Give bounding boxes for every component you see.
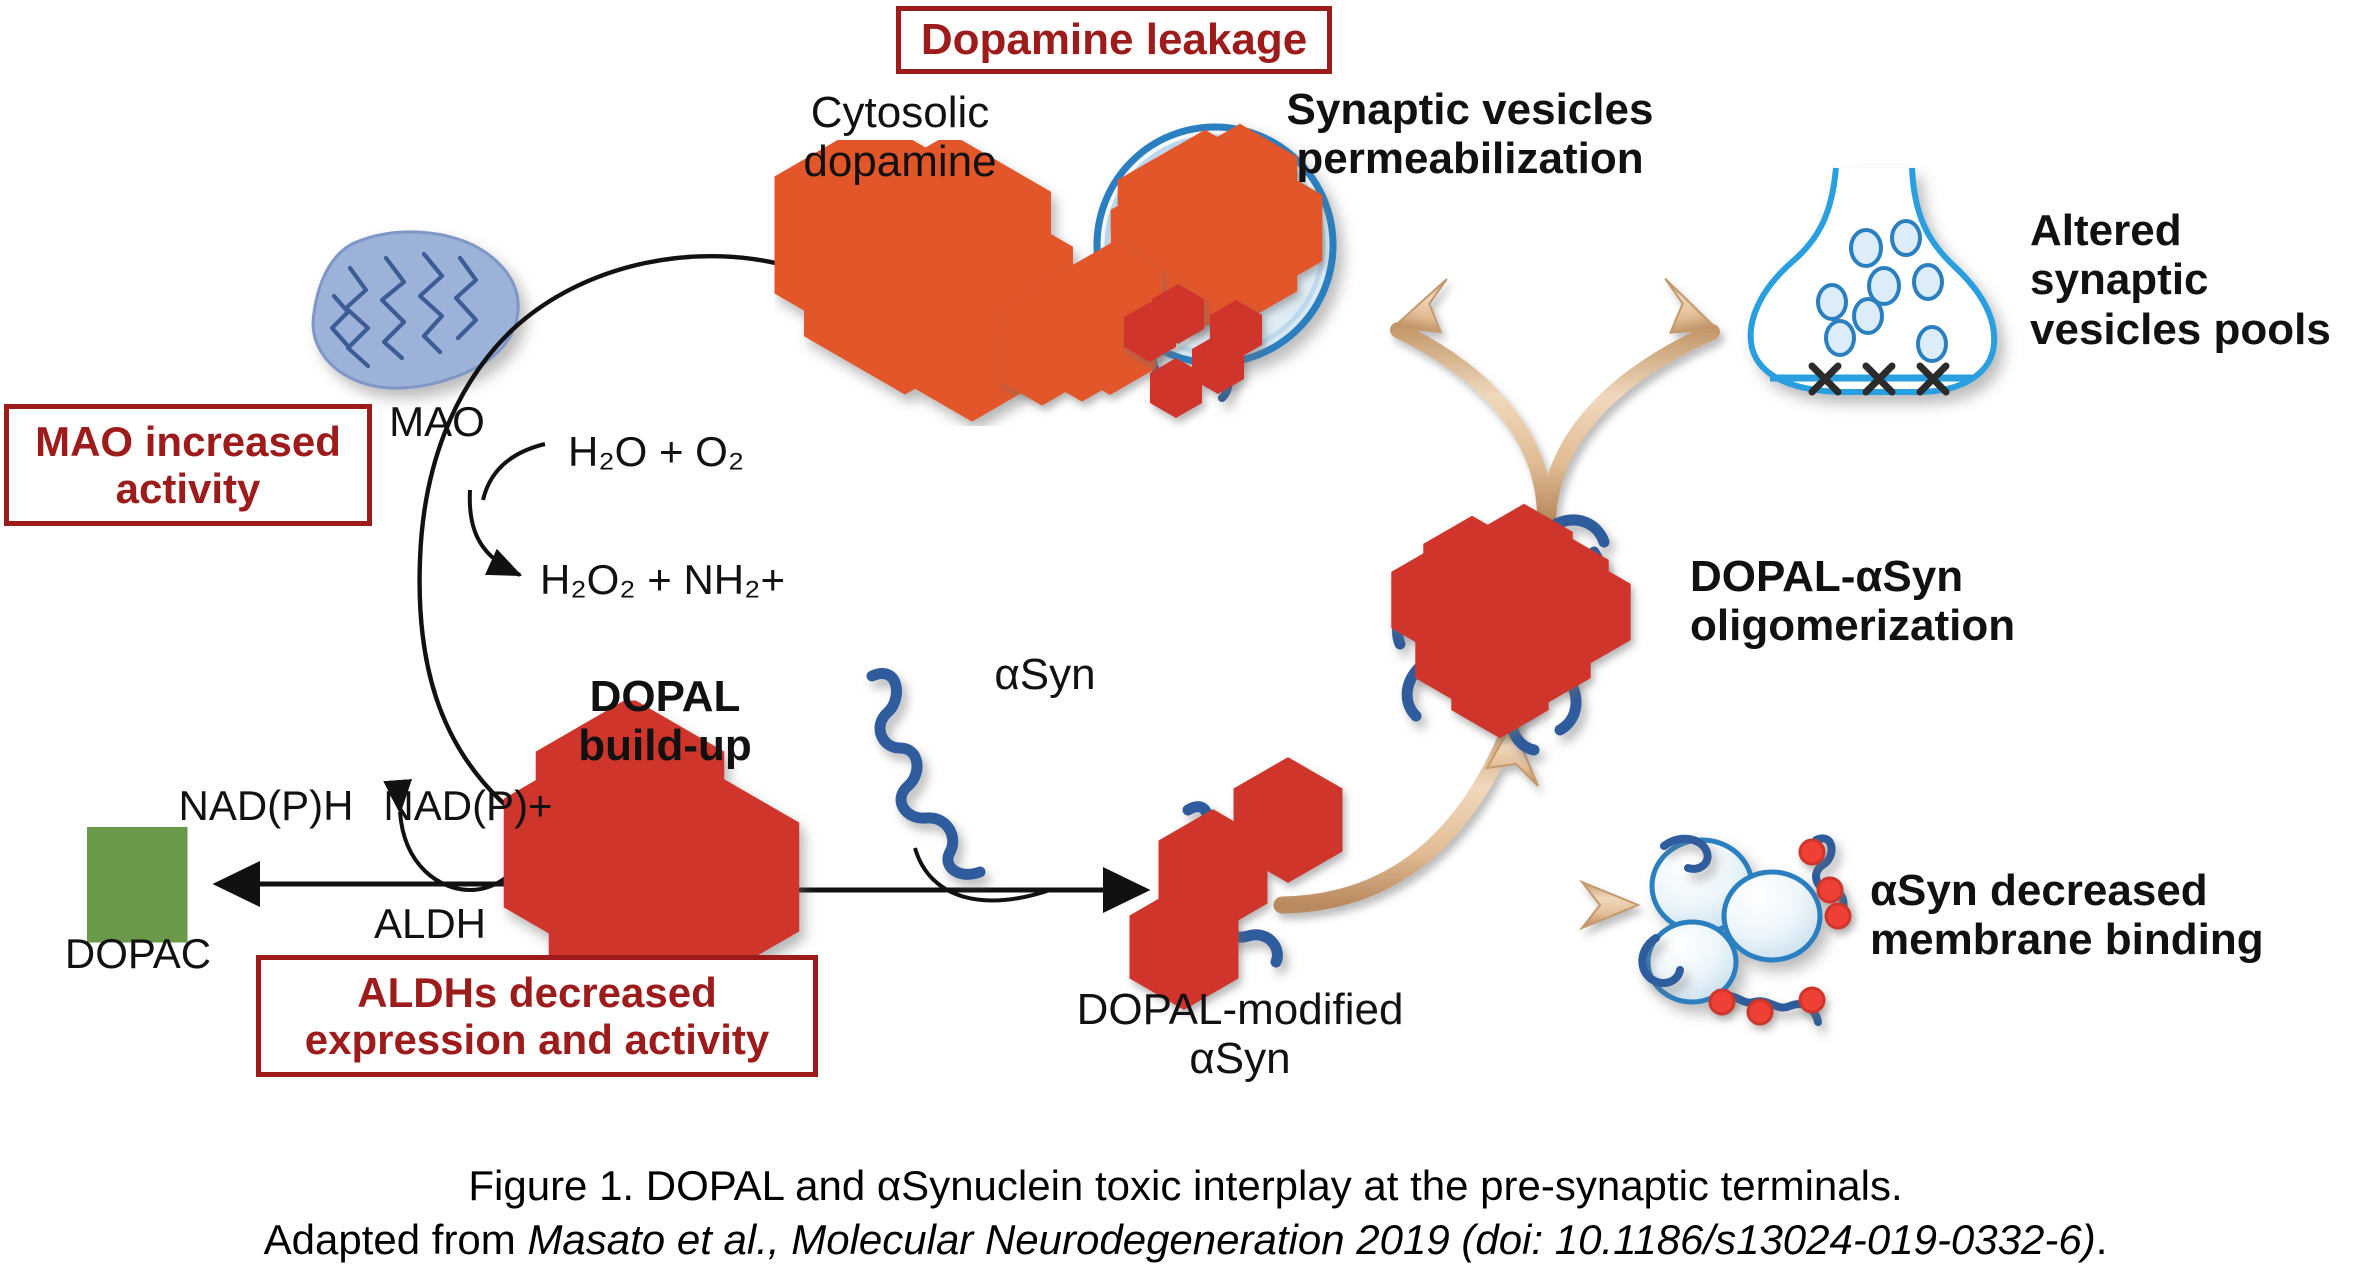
label-dopac: DOPAC [48, 930, 228, 977]
callout-aldhs-decreased: ALDHs decreased expression and activity [256, 955, 818, 1077]
dopal-asyn-oligomer-icon [1398, 520, 1604, 750]
label-altered-synaptic-vesicles-pools: Altered synaptic vesicles pools [2030, 206, 2360, 354]
callout-aldhs-decreased-label: ALDHs decreased expression and activity [305, 969, 770, 1063]
terminal-x-marks [1812, 366, 1946, 392]
label-synaptic-vesicles-permeabilization: Synaptic vesicles permeabilization [1255, 85, 1685, 184]
asyn-feed-curve [915, 848, 1050, 900]
label-nadp-plus: NAD(P)+ [358, 782, 578, 829]
label-dopal-buildup: DOPAL build-up [540, 672, 790, 771]
mao-cosubstrate-in-curve [483, 444, 545, 500]
mitochondrion-icon [313, 232, 518, 388]
label-dopal-asyn-oligomerization: DOPAL-αSyn oligomerization [1690, 552, 2070, 651]
callout-mao-increased: MAO increased activity [4, 404, 372, 526]
figure-caption-line1: Figure 1. DOPAL and αSynuclein toxic int… [0, 1158, 2371, 1213]
terminal-vesicle-pool [1818, 221, 1946, 361]
dopal-adducts-membrane-region [1710, 840, 1850, 1024]
vesicle-dopamine-hexagons [1151, 170, 1283, 286]
membrane-bound-asyn [1642, 839, 1707, 983]
free-modified-asyn-right [1716, 838, 1844, 1022]
caption-suffix: . [2096, 1216, 2108, 1263]
figure-canvas: Dopamine leakage MAO increased activity … [0, 0, 2371, 1278]
label-peroxide-ammonia: H₂O₂ + NH₂+ [540, 556, 860, 603]
dopal-modified-asyn-chain [1188, 807, 1277, 962]
label-nadph: NAD(P)H [156, 782, 376, 829]
label-aldh: ALDH [340, 900, 520, 947]
figure-caption-line2: Adapted from Masato et al., Molecular Ne… [0, 1212, 2371, 1267]
vesicle-rupture [1118, 321, 1190, 353]
vesicle-breach-oligomer [1145, 296, 1238, 398]
cytosolic-dopamine-hexagons [849, 205, 998, 335]
label-water-oxygen: H₂O + O₂ [568, 428, 848, 475]
caption-citation: Masato et al., Molecular Neurodegenerati… [527, 1216, 2095, 1263]
dopal-modified-asyn-chain-2 [1250, 792, 1314, 830]
lipid-vesicles-icon [1648, 840, 1820, 1002]
label-cytosolic-dopamine: Cytosolic dopamine [760, 88, 1040, 187]
leaking-dopamine-hexagons [1029, 281, 1128, 371]
dopac-hexagon [112, 856, 154, 904]
beige-arrow-to-membrane [1288, 882, 1638, 928]
label-asyn-decreased-membrane-binding: αSyn decreased membrane binding [1870, 866, 2270, 965]
callout-mao-increased-label: MAO increased activity [35, 418, 341, 512]
caption-prefix: Adapted from [264, 1216, 528, 1263]
dopal-adducts-oligomer [1425, 543, 1596, 699]
label-mao: MAO [372, 398, 502, 445]
beige-fork-arrow [1394, 270, 1717, 518]
label-dopal-modified-asyn: DOPAL-modified αSyn [1050, 985, 1430, 1084]
label-asyn: αSyn [970, 650, 1120, 699]
dopal-adducts-vesicle-breach [1140, 303, 1245, 399]
beige-arrow-to-oligomer [1282, 724, 1538, 905]
presynaptic-terminal-icon [1751, 168, 1995, 392]
callout-dopamine-leakage: Dopamine leakage [896, 6, 1332, 74]
dopal-adducts-modified-asyn [1168, 801, 1305, 966]
mao-cosubstrate-out-curve [470, 490, 520, 575]
asyn-chain-icon [872, 674, 980, 875]
dopal-hexagons [574, 778, 729, 933]
callout-dopamine-leakage-label: Dopamine leakage [921, 15, 1307, 64]
